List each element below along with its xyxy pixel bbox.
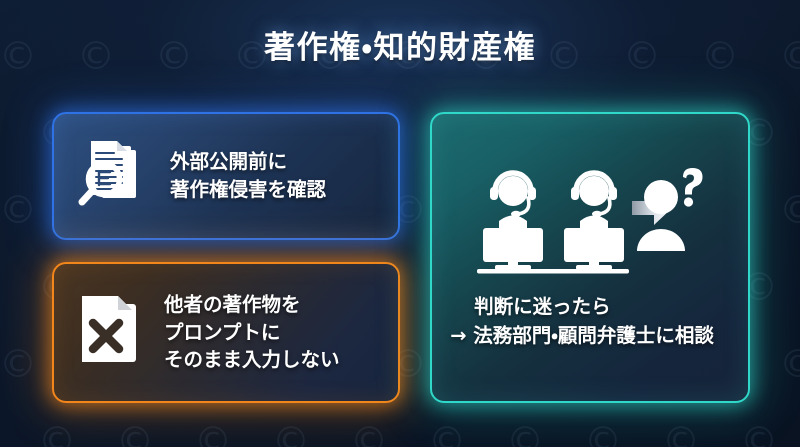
card-blue-line-1: 外部公開前に (170, 148, 326, 176)
copyright-watermark-glyph: © (0, 345, 37, 383)
copyright-watermark-glyph: © (194, 422, 232, 447)
copyright-watermark-glyph: © (116, 422, 154, 447)
copyright-watermark-glyph: © (584, 422, 622, 447)
support-agents-to-person-icon (477, 165, 703, 275)
agent-left (483, 173, 543, 270)
documents-magnifier-icon (76, 136, 152, 216)
copyright-watermark-glyph: © (272, 422, 310, 447)
copyright-watermark-glyph: © (662, 422, 700, 447)
copyright-watermark-glyph: © (38, 422, 76, 447)
copyright-watermark-glyph: © (506, 422, 544, 447)
card-consult-legal-department[interactable]: 判断に迷ったら → 法務部門・顧問弁護士に相談 (430, 112, 750, 403)
copyright-watermark-glyph: © (428, 422, 466, 447)
copyright-watermark-glyph: © (779, 345, 800, 383)
copyright-watermark-glyph: © (0, 191, 37, 229)
card-teal-line-2: → 法務部門・顧問弁護士に相談 (450, 322, 714, 350)
card-blue-text: 外部公開前に 著作権侵害を確認 (170, 148, 326, 203)
slide-root: ©©©©©©©©©©©©©©©©©©©©©©©©©©©©©©©©©©©©©©©©… (0, 0, 800, 447)
card-orange-line-1: 他者の著作物を (164, 291, 340, 319)
card-orange-text: 他者の著作物を プロンプトに そのまま入力しない (164, 291, 340, 374)
copyright-watermark-glyph: © (779, 191, 800, 229)
card-orange-line-3: そのまま入力しない (164, 346, 340, 374)
card-do-not-paste-copyrighted-work[interactable]: 他者の著作物を プロンプトに そのまま入力しない (52, 262, 400, 403)
card-teal-text: 判断に迷ったら → 法務部門・顧問弁護士に相談 (466, 293, 714, 350)
copyright-watermark-glyph: © (350, 422, 388, 447)
document-x-icon (76, 290, 148, 376)
card-check-before-publishing[interactable]: 外部公開前に 著作権侵害を確認 (52, 112, 400, 240)
agent-right (564, 173, 624, 270)
desk-line (477, 269, 629, 274)
copyright-watermark-glyph: © (740, 422, 778, 447)
page-title: 著作権・知的財産権 (0, 22, 800, 67)
card-orange-line-2: プロンプトに (164, 319, 340, 347)
card-teal-line-1: 判断に迷ったら (474, 293, 714, 321)
card-blue-line-2: 著作権侵害を確認 (170, 176, 326, 204)
